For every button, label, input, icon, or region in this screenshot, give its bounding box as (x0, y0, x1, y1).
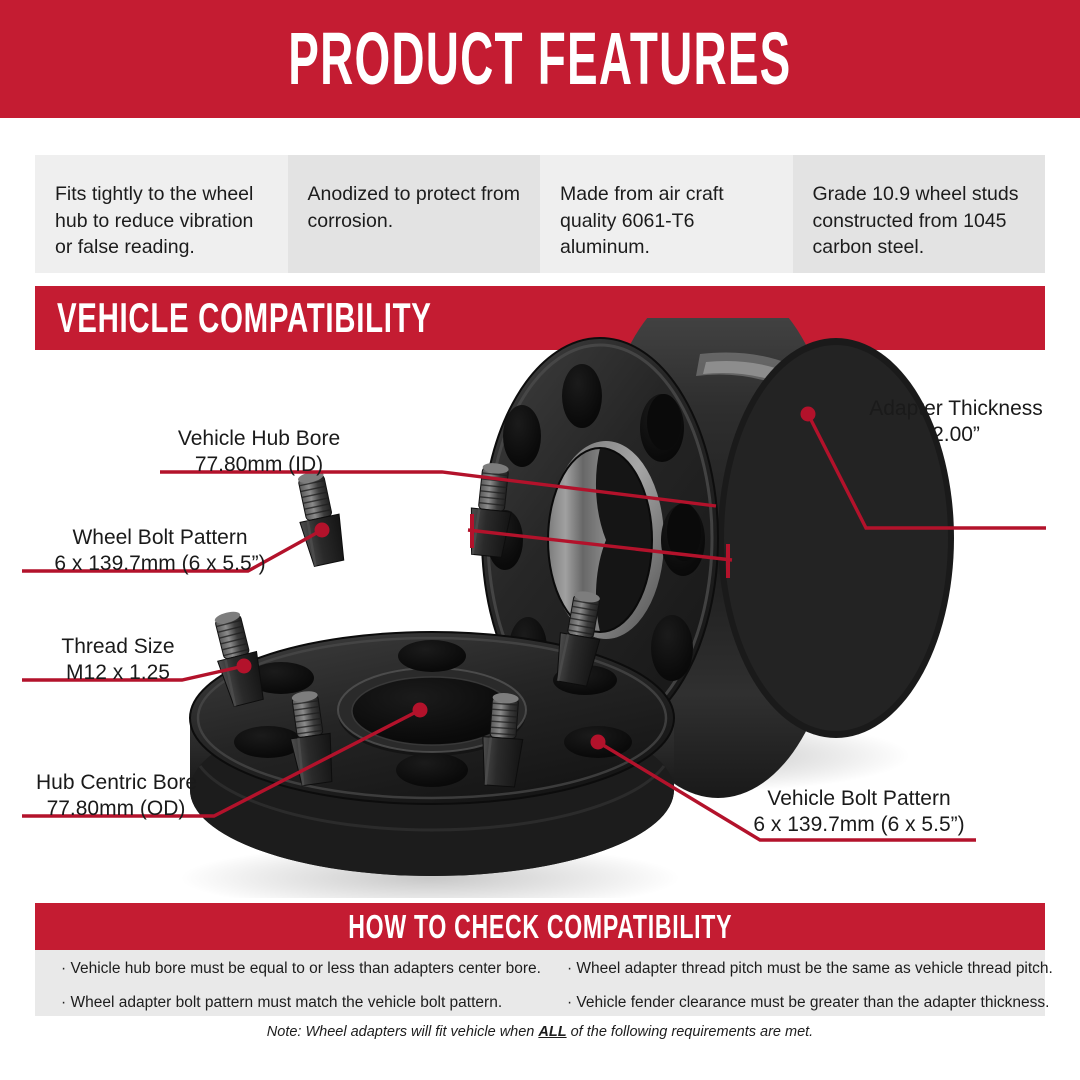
callout-label: Vehicle Hub Bore (176, 426, 342, 452)
product-diagram: Vehicle Hub Bore 77.80mm (ID) Wheel Bolt… (0, 318, 1080, 898)
callout-value: M12 x 1.25 (56, 660, 180, 686)
callout-wheel-bolt-pattern: Wheel Bolt Pattern 6 x 139.7mm (6 x 5.5”… (20, 525, 300, 578)
callout-label: Hub Centric Bore (36, 770, 196, 796)
callout-value: 2.00” (868, 422, 1044, 448)
callout-label: Adapter Thickness (868, 396, 1044, 422)
feature-box-4: Grade 10.9 wheel studs constructed from … (793, 155, 1046, 273)
feature-box-1: Fits tightly to the wheel hub to reduce … (35, 155, 288, 273)
product-features-banner: PRODUCT FEATURES (0, 0, 1080, 118)
compatibility-note: Note: Wheel adapters will fit vehicle wh… (0, 1024, 1080, 1040)
callout-hub-centric-bore: Hub Centric Bore 77.80mm (OD) (36, 770, 196, 823)
callout-value: 77.80mm (ID) (176, 452, 342, 478)
bolt-hole (396, 753, 468, 787)
how-to-check-banner: HOW TO CHECK COMPATIBILITY (35, 903, 1045, 950)
callout-value: 6 x 139.7mm (6 x 5.5”) (748, 812, 970, 838)
how-to-check-left-column: · Vehicle hub bore must be equal to or l… (35, 950, 541, 1016)
callout-adapter-thickness: Adapter Thickness 2.00” (868, 396, 1044, 449)
feature-box-row: Fits tightly to the wheel hub to reduce … (35, 155, 1045, 273)
how-to-check-right-column: · Wheel adapter thread pitch must be the… (541, 950, 1053, 1016)
feature-box-2: Anodized to protect from corrosion. (288, 155, 541, 273)
callout-vehicle-hub-bore: Vehicle Hub Bore 77.80mm (ID) (176, 426, 342, 479)
callout-vehicle-bolt-pattern: Vehicle Bolt Pattern 6 x 139.7mm (6 x 5.… (748, 786, 970, 839)
callout-label: Wheel Bolt Pattern (20, 525, 300, 551)
callout-label: Vehicle Bolt Pattern (748, 786, 970, 812)
how-to-check-title: HOW TO CHECK COMPATIBILITY (348, 910, 732, 943)
infographic-page: PRODUCT FEATURES Fits tightly to the whe… (0, 0, 1080, 1080)
bolt-hole (398, 640, 466, 672)
list-item: · Wheel adapter thread pitch must be the… (567, 960, 1053, 977)
note-prefix: Note: Wheel adapters will fit vehicle wh… (267, 1024, 539, 1040)
callout-thread-size: Thread Size M12 x 1.25 (56, 634, 180, 687)
note-suffix: of the following requirements are met. (567, 1024, 814, 1040)
callout-label: Thread Size (56, 634, 180, 660)
how-to-check-list: · Vehicle hub bore must be equal to or l… (35, 950, 1045, 1016)
feature-box-3: Made from air craft quality 6061-T6 alum… (540, 155, 793, 273)
list-item: · Vehicle fender clearance must be great… (567, 994, 1053, 1011)
note-emphasis: ALL (538, 1024, 566, 1040)
callout-value: 77.80mm (OD) (36, 796, 196, 822)
list-item: · Wheel adapter bolt pattern must match … (61, 994, 541, 1011)
list-item: · Vehicle hub bore must be equal to or l… (61, 960, 541, 977)
callout-value: 6 x 139.7mm (6 x 5.5”) (20, 551, 300, 577)
page-title: PRODUCT FEATURES (288, 22, 791, 96)
